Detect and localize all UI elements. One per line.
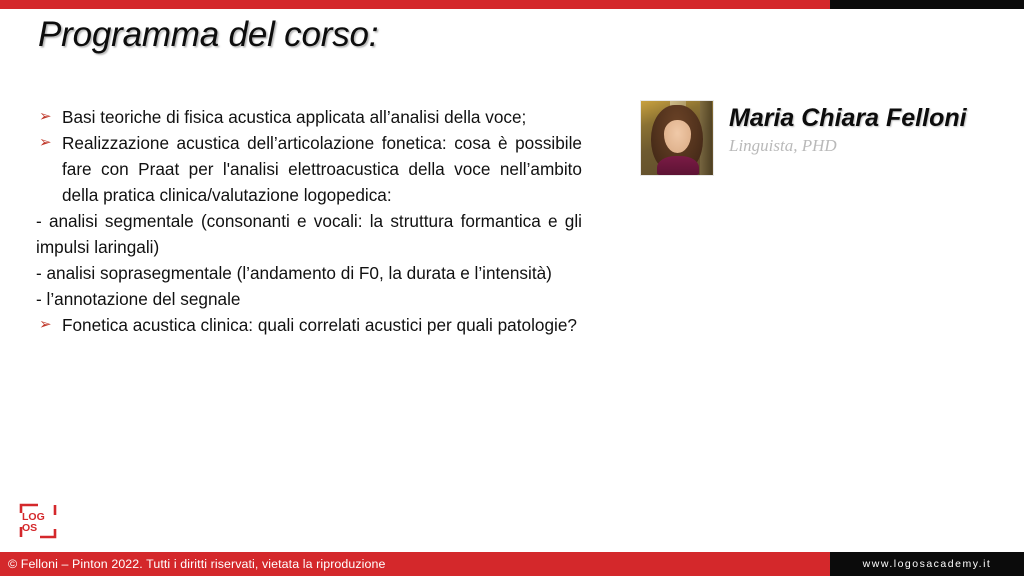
list-item-text: Fonetica acustica clinica: quali correla…	[62, 312, 582, 338]
footer-bar: © Felloni – Pinton 2022. Tutti i diritti…	[0, 552, 1024, 576]
avatar-scarf	[657, 156, 699, 175]
list-item-dash: - analisi segmentale (consonanti e vocal…	[36, 208, 582, 260]
top-accent-bar	[0, 0, 1024, 9]
list-item-text: Basi teoriche di fisica acustica applica…	[62, 104, 582, 130]
list-item: ➢ Basi teoriche di fisica acustica appli…	[36, 104, 582, 130]
page-title: Programma del corso:	[38, 15, 378, 55]
footer-website-area: www.logosacademy.it	[830, 552, 1024, 576]
logo-mark-icon: LOG OS	[18, 503, 58, 539]
top-accent-bar-black	[830, 0, 1024, 9]
footer-copyright-area: © Felloni – Pinton 2022. Tutti i diritti…	[0, 552, 830, 576]
speaker-details: Maria Chiara Felloni Linguista, PHD	[729, 100, 967, 156]
speaker-role: Linguista, PHD	[729, 137, 967, 156]
footer-website-text[interactable]: www.logosacademy.it	[863, 558, 992, 570]
arrow-bullet-icon: ➢	[36, 312, 62, 338]
speaker-block: Maria Chiara Felloni Linguista, PHD	[640, 100, 967, 176]
list-item-text: Realizzazione acustica dell’articolazion…	[62, 130, 582, 208]
top-accent-bar-red	[0, 0, 830, 9]
list-item-dash: - l’annotazione del segnale	[36, 286, 582, 312]
arrow-bullet-icon: ➢	[36, 130, 62, 156]
list-item-dash: - analisi soprasegmentale (l’andamento d…	[36, 260, 582, 286]
course-program-list: ➢ Basi teoriche di fisica acustica appli…	[36, 104, 582, 338]
list-item: ➢ Realizzazione acustica dell’articolazi…	[36, 130, 582, 208]
logo-text-line2: OS	[22, 522, 37, 534]
arrow-bullet-icon: ➢	[36, 104, 62, 130]
list-item: ➢ Fonetica acustica clinica: quali corre…	[36, 312, 582, 338]
avatar	[640, 100, 714, 176]
footer-copyright-text: © Felloni – Pinton 2022. Tutti i diritti…	[0, 557, 386, 571]
logos-academy-logo: LOG OS	[18, 503, 58, 539]
speaker-name: Maria Chiara Felloni	[729, 105, 967, 131]
